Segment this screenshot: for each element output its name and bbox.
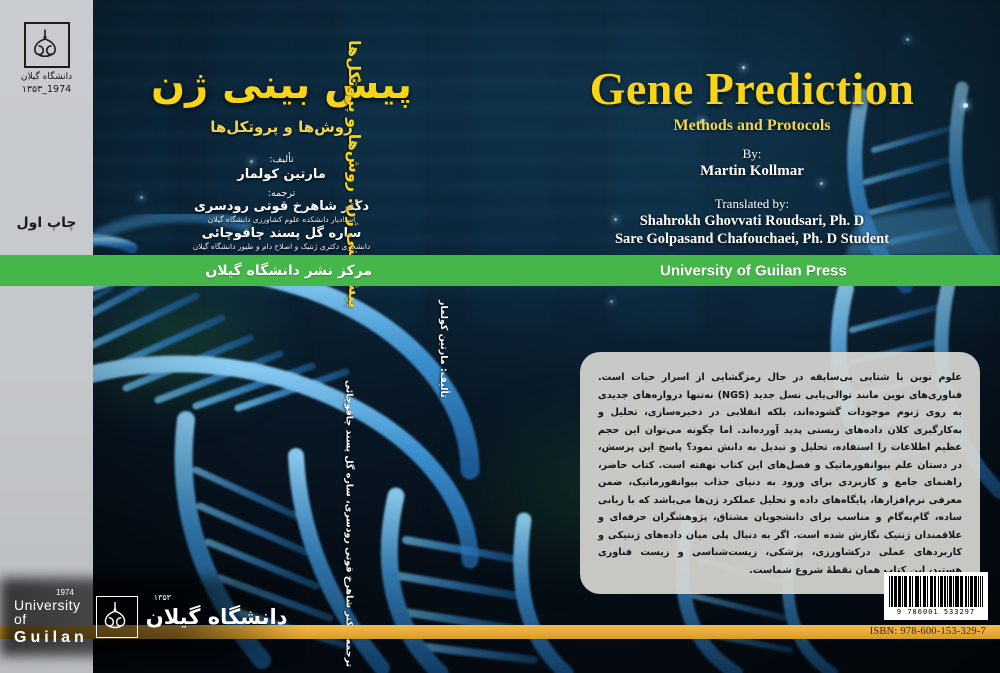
front-cover-title: Gene Prediction	[526, 62, 978, 115]
uog-en-line1: University of	[14, 598, 88, 626]
book-flap: دانشگاه گیلان ۱۳۵۳_1974 چاپ اول	[0, 0, 93, 673]
back-cover-translator-label: ترجمه:	[93, 188, 470, 199]
sparkle-particle	[610, 300, 613, 303]
flap-crest-fa-text: دانشگاه گیلان	[0, 71, 93, 83]
back-cover-title: پیش بینی ژن	[93, 62, 470, 108]
front-cover-subtitle: Methods and Protocols	[526, 117, 978, 135]
publisher-name-fa: مرکز نشر دانشگاه گیلان	[205, 263, 372, 279]
uog-en-line2: Guilan	[14, 630, 88, 646]
flap-crest-year: ۱۳۵۳_1974	[0, 84, 93, 95]
isbn-text: ISBN: 978-600-153-329-7	[870, 626, 986, 637]
description-text: علوم نوین با شتابی بی‌سابقه در حال رمزگش…	[598, 369, 962, 579]
uog-persian-group: ۱۳۵۳ دانشگاه گیلان	[146, 605, 288, 629]
back-cover-subtitle: روش‌ها و پروتکل‌ها	[93, 118, 470, 136]
uog-persian-name: دانشگاه گیلان	[146, 605, 288, 629]
back-cover-author-label: تألیف:	[93, 154, 470, 165]
flap-university-logo: دانشگاه گیلان ۱۳۵۳_1974	[0, 22, 93, 95]
publisher-band: مرکز نشر دانشگاه گیلان University of Gui…	[0, 255, 1000, 286]
book-cover: دانشگاه گیلان ۱۳۵۳_1974 چاپ اول پیش بینی…	[0, 0, 1000, 673]
front-cover-translator-1: Shahrokh Ghovvati Roudsari, Ph. D	[526, 213, 978, 230]
front-cover-text-block: Gene Prediction Methods and Protocols By…	[526, 0, 1000, 255]
spine-author-line: تألیف: مارتین کولمار	[438, 300, 449, 398]
uog-year-en: 1974	[56, 589, 88, 597]
university-of-guilan-logo: 1974 University of Guilan ۱۳۵۳ دانشگاه گ…	[14, 586, 284, 648]
front-cover-by-label: By:	[526, 146, 978, 162]
back-cover-description-panel: علوم نوین با شتابی بی‌سابقه در حال رمزگش…	[580, 352, 980, 594]
publisher-name-en: University of Guilan Press	[660, 262, 847, 279]
front-cover-author: Martin Kollmar	[526, 163, 978, 180]
front-cover-translator-2: Sare Golpasand Chafouchaei, Ph. D Studen…	[526, 231, 978, 248]
back-cover-translator-1-affiliation: استادیار دانشکده علوم کشاورزی دانشگاه گی…	[93, 215, 470, 224]
book-spine: پیش بینی ژن: روش‌ها و پروتکل‌ها تألیف: م…	[470, 0, 526, 673]
back-cover-author: مارتین کولمار	[93, 167, 470, 182]
university-crest-icon	[96, 596, 138, 638]
back-cover-text-block: پیش بینی ژن روش‌ها و پروتکل‌ها تألیف: ما…	[93, 0, 470, 255]
barcode-bars	[889, 576, 983, 607]
back-cover-translator-2: ساره گل پسند چافوچائی	[93, 226, 470, 241]
back-cover-translator-1: دکتر شاهرخ قوتی رودسری	[93, 199, 470, 214]
front-cover-translated-label: Translated by:	[526, 196, 978, 212]
flap-edition-label: چاپ اول	[0, 215, 93, 231]
back-cover-translator-2-affiliation: دانشجوی دکتری ژنتیک و اصلاح دام و طیور د…	[93, 242, 470, 251]
university-crest-icon	[24, 22, 70, 68]
barcode-number: 9 786001 533297	[889, 608, 983, 616]
uog-year-fa: ۱۳۵۳	[154, 593, 171, 602]
uog-english-name: 1974 University of Guilan	[14, 589, 88, 646]
barcode: 9 786001 533297	[884, 572, 988, 620]
